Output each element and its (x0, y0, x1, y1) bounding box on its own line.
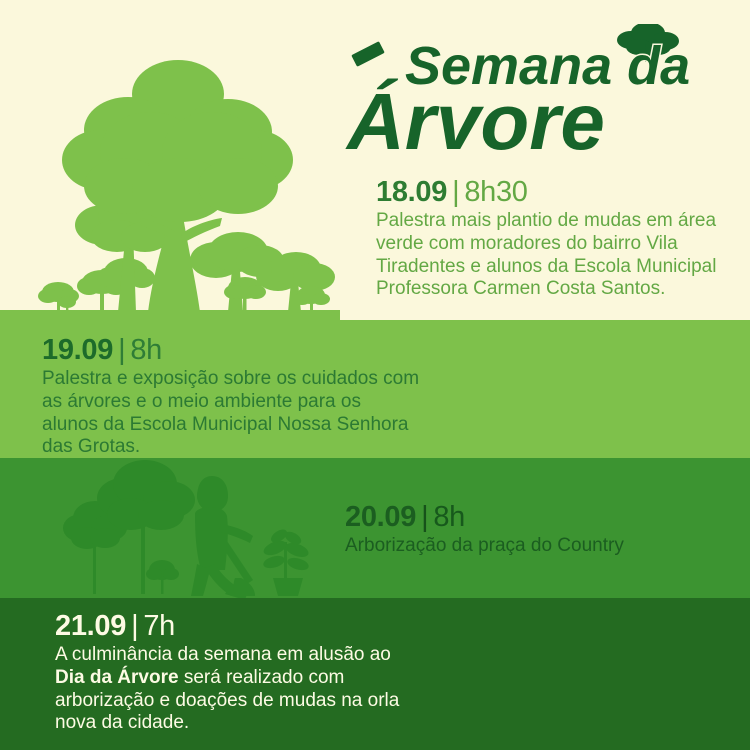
band-light-green: 19.09|8h Palestra e exposição sobre os c… (0, 320, 750, 458)
title-line-2: Árvore (345, 77, 605, 166)
event-separator: | (447, 176, 464, 208)
poster-canvas: .tl { font-family:"Liberation Sans", san… (0, 0, 750, 750)
event-date: 19.09 (42, 334, 113, 366)
event-description: Arborização da praça do Country (345, 535, 735, 558)
event-date: 20.09 (345, 501, 416, 533)
event-headline: 20.09|8h (345, 503, 735, 532)
event-description: Palestra mais plantio de mudas em área v… (376, 210, 746, 301)
event-block-18-09: 18.09|8h30 Palestra mais plantio de muda… (376, 178, 746, 301)
event-separator: | (416, 501, 433, 533)
event-headline: 19.09|8h (42, 336, 422, 365)
event-headline: 18.09|8h30 (376, 178, 746, 207)
event-headline: 21.09|7h (55, 612, 405, 641)
title-artwork: .tl { font-family:"Liberation Sans", san… (345, 24, 745, 174)
accent-mark (349, 39, 387, 69)
event-description: Palestra e exposição sobre os cuidados c… (42, 368, 422, 458)
event-date: 21.09 (55, 610, 126, 642)
band-cream: .tl { font-family:"Liberation Sans", san… (0, 0, 750, 320)
event-time: 8h (433, 501, 465, 533)
event-separator: | (113, 334, 130, 366)
event-time: 8h30 (464, 176, 527, 208)
event-description: A culminância da semana em alusão ao Dia… (55, 644, 405, 735)
event-time: 7h (143, 610, 175, 642)
event-block-19-09: 19.09|8h Palestra e exposição sobre os c… (42, 336, 422, 458)
event-time: 8h (130, 334, 162, 366)
poster-title: .tl { font-family:"Liberation Sans", san… (345, 24, 745, 174)
event-separator: | (126, 610, 143, 642)
forest-illustration (0, 20, 340, 320)
event-date: 18.09 (376, 176, 447, 208)
event-block-20-09: 20.09|8h Arborização da praça do Country (345, 503, 735, 558)
person-digging-illustration (35, 458, 335, 598)
event-description-highlight: Dia da Árvore (55, 667, 179, 688)
band-mid-green: 20.09|8h Arborização da praça do Country (0, 458, 750, 598)
event-description-part1: A culminância da semana em alusão ao (55, 644, 391, 665)
band-dark-green: 21.09|7h A culminância da semana em alus… (0, 598, 750, 750)
event-block-21-09: 21.09|7h A culminância da semana em alus… (55, 612, 405, 735)
